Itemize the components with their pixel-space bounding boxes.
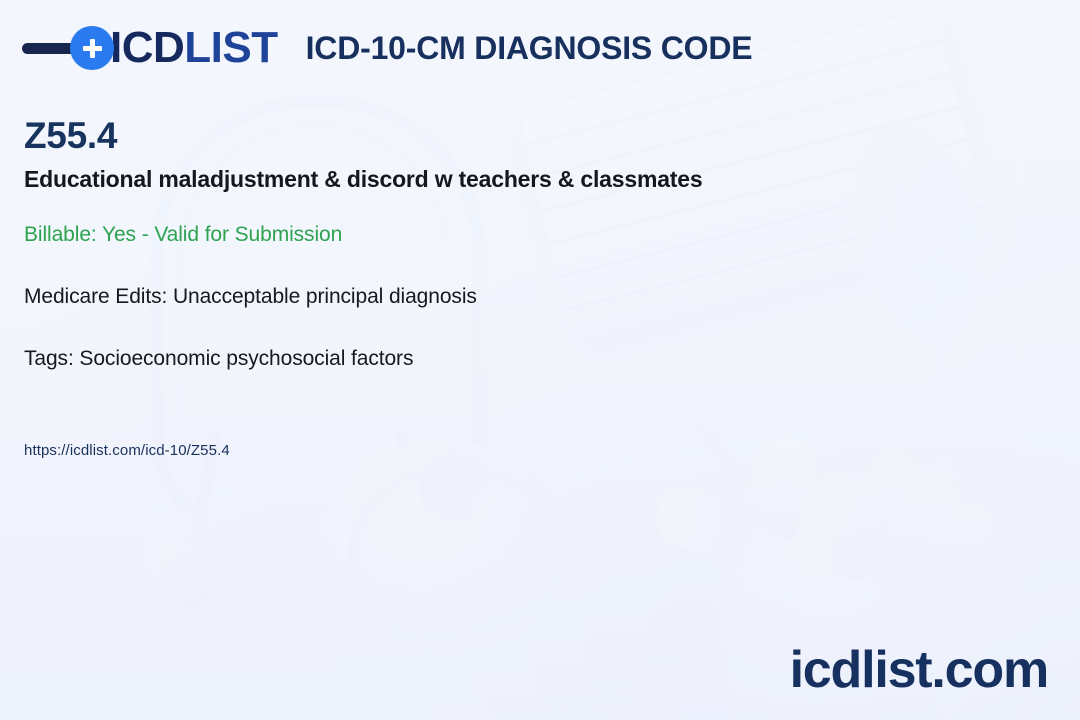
site-watermark: icdlist.com <box>790 644 1048 696</box>
logo-wordmark: ICDLIST <box>110 26 278 70</box>
icdlist-logo[interactable]: ICDLIST <box>22 26 278 70</box>
logo-word-icd: ICD <box>110 23 184 72</box>
billable-status: Billable: Yes - Valid for Submission <box>24 223 342 247</box>
diagnosis-code: Z55.4 <box>24 116 117 157</box>
diagnosis-description: Educational maladjustment & discord w te… <box>24 166 702 193</box>
logo-word-list: LIST <box>184 23 277 72</box>
tags-line: Tags: Socioeconomic psychosocial factors <box>24 347 413 371</box>
card-header: ICDLIST ICD-10-CM DIAGNOSIS CODE <box>22 26 752 70</box>
page-title: ICD-10-CM DIAGNOSIS CODE <box>306 30 753 67</box>
icd-code-card: ICDLIST ICD-10-CM DIAGNOSIS CODE Z55.4 E… <box>0 0 1080 720</box>
source-url[interactable]: https://icdlist.com/icd-10/Z55.4 <box>24 442 230 459</box>
plus-vertical-bar <box>90 39 95 58</box>
medicare-edits: Medicare Edits: Unacceptable principal d… <box>24 285 477 309</box>
dash-icon <box>22 43 76 54</box>
plus-circle-icon <box>70 26 114 70</box>
card-content: ICDLIST ICD-10-CM DIAGNOSIS CODE Z55.4 E… <box>0 0 1080 720</box>
